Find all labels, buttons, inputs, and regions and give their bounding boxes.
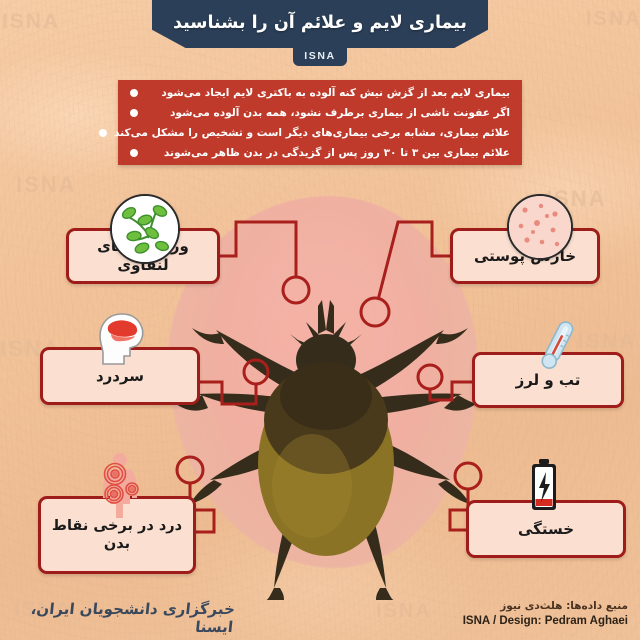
footer-credits: منبع داده‌ها: هلث‌دی نیوز ISNA / Design:… (463, 600, 628, 627)
connector-node (244, 360, 268, 384)
connector-node (455, 463, 481, 489)
connector-node (283, 277, 309, 303)
bacteria-icon (110, 194, 180, 264)
body-pain-icon (92, 452, 148, 518)
design-credit: ISNA / Design: Pedram Aghaei (463, 615, 628, 627)
low-battery-icon (526, 458, 562, 514)
connector-node (361, 298, 389, 326)
connector-node (418, 365, 442, 389)
symptom-label: سردرد (90, 367, 150, 386)
head-pain-icon (96, 312, 148, 368)
infographic-canvas: ISNA ISNA ISNA ISNA ISNA ISNA ISNA ISNA … (0, 0, 640, 640)
thermometer-icon (536, 318, 578, 374)
symptom-label: خستگی (512, 520, 580, 539)
connector-node (177, 457, 203, 483)
rash-icon (507, 194, 573, 260)
symptom-label: درد در برخی نقاط بدن (41, 517, 193, 553)
data-source: منبع داده‌ها: هلث‌دی نیوز (463, 600, 628, 612)
isna-agency-logo: خبرگزاری دانشجویان ایران، ایسنا (13, 604, 236, 632)
